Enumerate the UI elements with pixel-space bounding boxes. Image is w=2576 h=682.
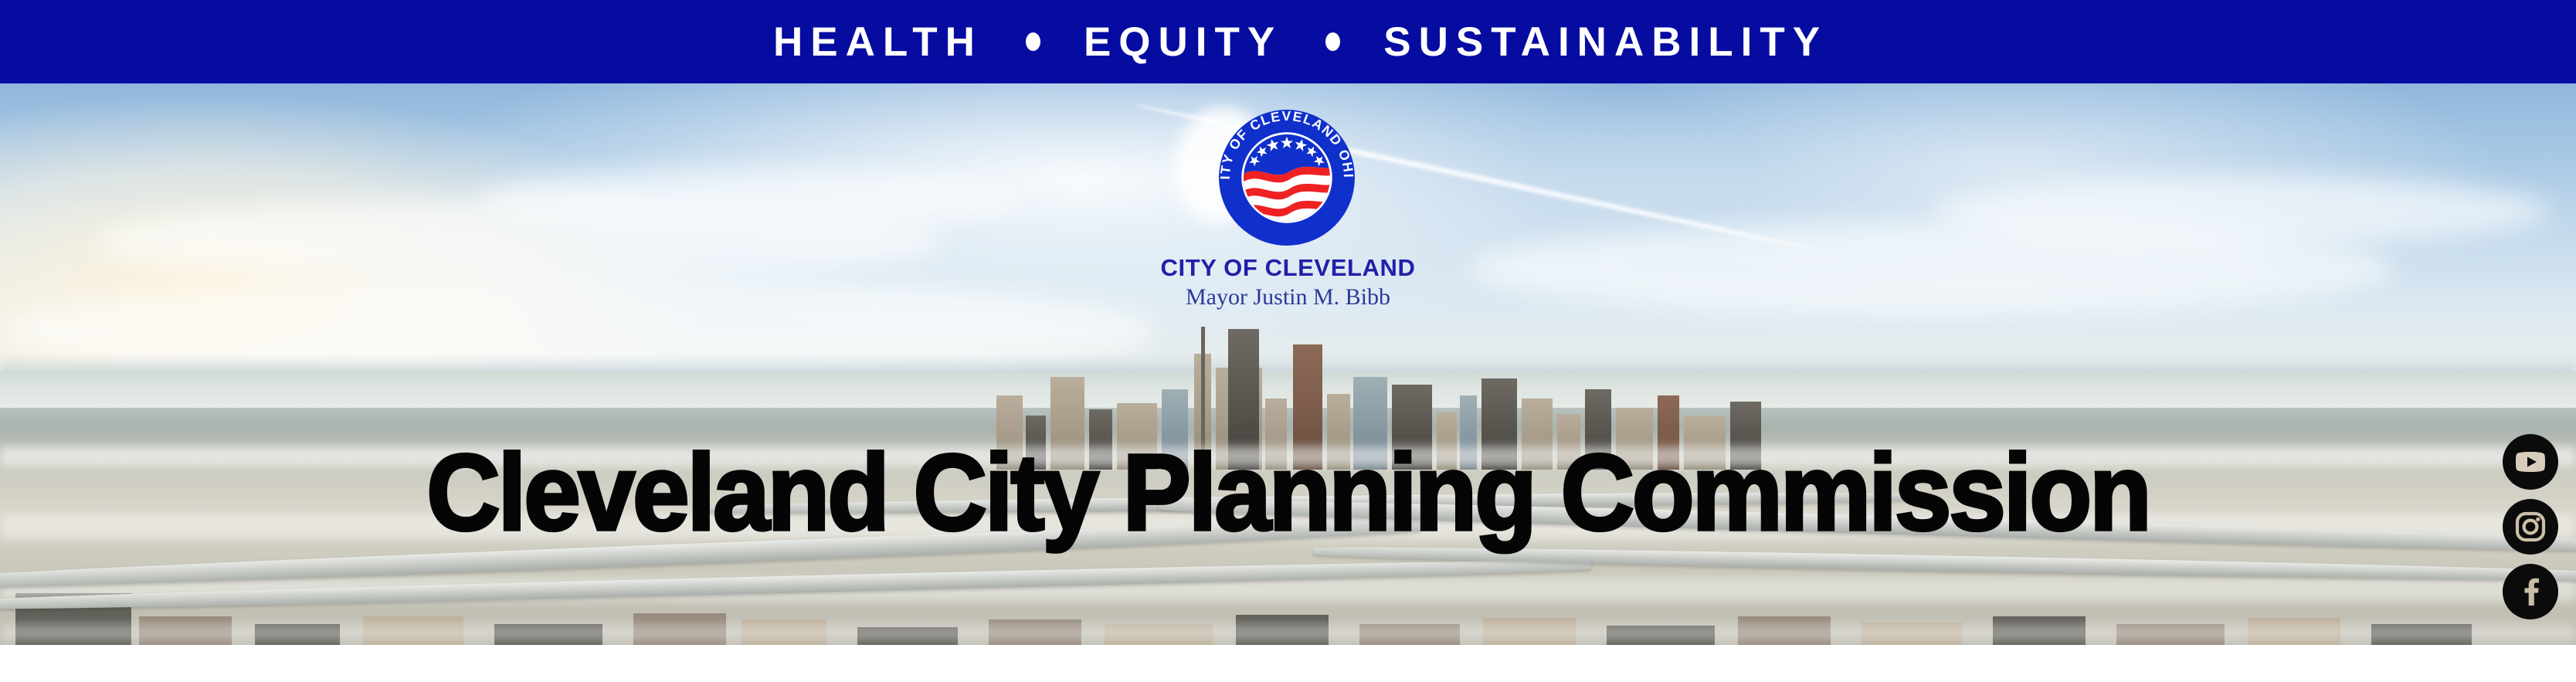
snow-texture <box>0 624 2576 641</box>
brand-mayor-line: Mayor Justin M. Bibb <box>0 283 2576 311</box>
youtube-icon <box>2513 444 2548 480</box>
tagline-word-sustainability: SUSTAINABILITY <box>1383 22 1828 63</box>
page-title: Cleveland City Planning Commission <box>0 439 2576 547</box>
social-links <box>2502 434 2559 619</box>
cloud-wisp <box>479 168 1020 230</box>
tagline-words: HEALTH EQUITY SUSTAINABILITY <box>773 22 1828 63</box>
tagline-word-equity: EQUITY <box>1084 22 1282 63</box>
facebook-link[interactable] <box>2503 564 2558 619</box>
tagline-separator-dot-1 <box>1026 32 1040 51</box>
instagram-link[interactable] <box>2503 499 2558 555</box>
tagline-bar: HEALTH EQUITY SUSTAINABILITY <box>0 0 2576 83</box>
city-of-cleveland-seal: CITY OF CLEVELAND OHIO <box>1214 102 1359 250</box>
tagline-word-health: HEALTH <box>773 22 983 63</box>
brand-text-block: CITY OF CLEVELAND Mayor Justin M. Bibb <box>0 255 2576 311</box>
facebook-icon <box>2513 575 2547 609</box>
youtube-link[interactable] <box>2503 434 2558 490</box>
brand-city-line: CITY OF CLEVELAND <box>0 255 2576 280</box>
instagram-icon <box>2513 510 2547 544</box>
bottom-white-strip <box>0 645 2576 682</box>
cloud-wisp <box>1931 176 2549 246</box>
page-root: HEALTH EQUITY SUSTAINABILITY <box>0 0 2576 682</box>
tagline-separator-dot-2 <box>1325 32 1340 51</box>
